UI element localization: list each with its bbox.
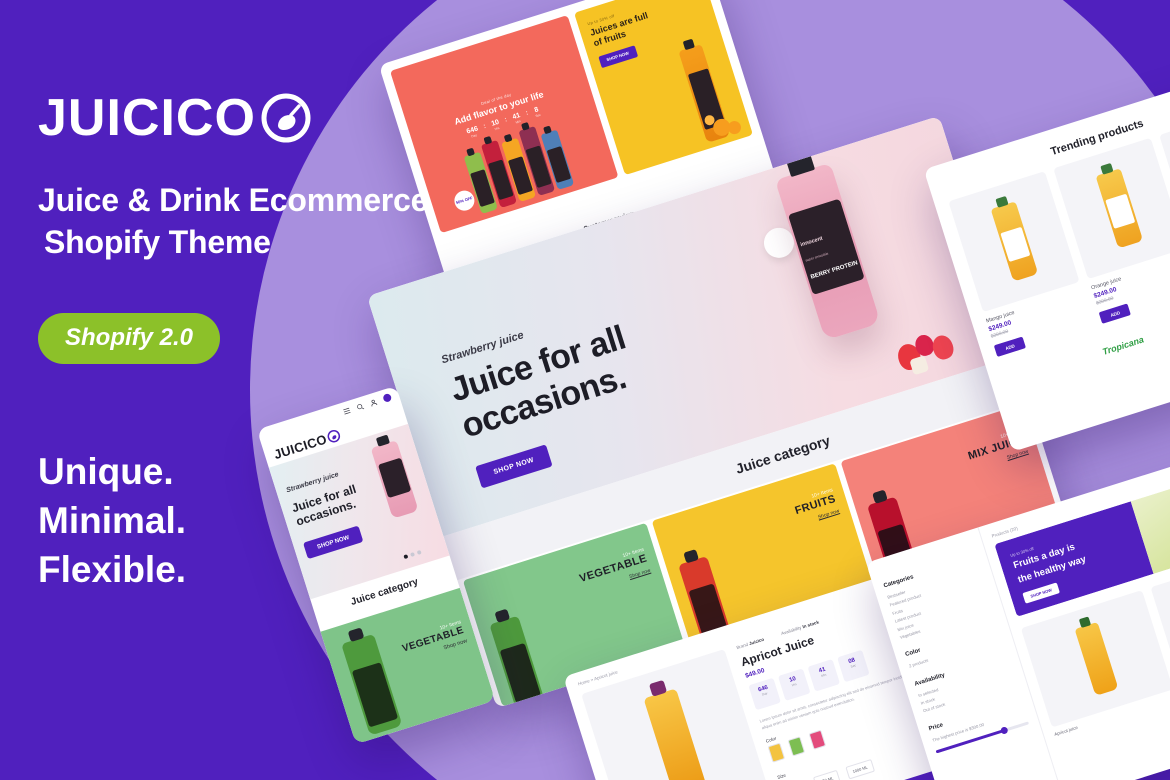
countdown-unit: 10Hrs	[491, 119, 502, 132]
size-option[interactable]: 1000 ML	[845, 759, 875, 780]
shop-now-button[interactable]: SHOP NOW	[598, 45, 638, 68]
carousel-dot[interactable]	[417, 550, 422, 555]
countdown-separator: :	[483, 123, 489, 134]
availability-label: Availability	[780, 625, 802, 636]
brand-tropicana: Tropicana	[1101, 334, 1145, 356]
bottle-icon	[1096, 168, 1144, 248]
left-copy-column: JUICICO Juice & Drink Ecommerce Shopify …	[38, 92, 368, 595]
banner-shop-now-button[interactable]: SHOP NOW	[1022, 582, 1060, 603]
brand-label: Brand	[736, 642, 749, 650]
countdown-cell: 41Min	[808, 659, 841, 692]
tagline: Unique. Minimal. Flexible.	[38, 448, 368, 594]
brand-name: JUICICO	[38, 92, 256, 144]
headline-line-2: Shopify Theme	[38, 222, 508, 264]
product-card[interactable]: Apricot juice	[1021, 590, 1170, 737]
countdown-cell: 10Hrs	[778, 668, 811, 701]
carousel-dots[interactable]	[403, 550, 421, 559]
carousel-dot-active[interactable]	[403, 554, 408, 559]
size-option[interactable]: 750 ML	[813, 770, 841, 780]
juice-fruit-icon	[260, 92, 312, 144]
cart-icon[interactable]	[382, 393, 392, 403]
status-badge: Shopify 2.0	[38, 313, 220, 364]
color-swatch-pink[interactable]	[809, 730, 827, 750]
bottle-vegetable	[489, 616, 545, 707]
headline-line-1: Juice & Drink Ecommerce	[38, 182, 428, 218]
brand-logo: JUICICO	[38, 92, 368, 144]
promo-stage: JUICICO Juice & Drink Ecommerce Shopify …	[0, 0, 1170, 780]
countdown-unit: 8Sec	[533, 106, 542, 118]
bottle-vegetable	[341, 634, 402, 736]
bottle-icon	[990, 201, 1038, 281]
color-swatch-green[interactable]	[788, 737, 806, 757]
countdown-label: Sec	[535, 113, 541, 118]
user-icon[interactable]	[369, 398, 378, 407]
countdown-label: Hrs	[493, 126, 502, 132]
countdown-cell: 08Sec	[837, 650, 870, 683]
color-swatch-yellow[interactable]	[768, 743, 786, 763]
carousel-dot[interactable]	[410, 552, 415, 557]
countdown-cell: 646Day	[748, 678, 781, 711]
page-title: Juice & Drink Ecommerce Shopify Theme	[38, 180, 508, 263]
slider-handle[interactable]	[1000, 726, 1009, 735]
tagline-line-1: Unique.	[38, 448, 368, 497]
bottle-strawberry	[371, 440, 419, 519]
brand-value: Juicico	[748, 637, 764, 646]
countdown-separator: :	[525, 110, 531, 121]
countdown-separator: :	[504, 116, 510, 127]
hero-shop-now-button[interactable]: SHOP NOW	[475, 444, 552, 488]
countdown-unit: 646Day	[466, 126, 480, 140]
tagline-line-3: Flexible.	[38, 546, 368, 595]
tagline-line-2: Minimal.	[38, 497, 368, 546]
availability-value: In stock	[802, 619, 820, 629]
hero-copy: Strawberry juice Juice for all occasions…	[440, 300, 655, 488]
